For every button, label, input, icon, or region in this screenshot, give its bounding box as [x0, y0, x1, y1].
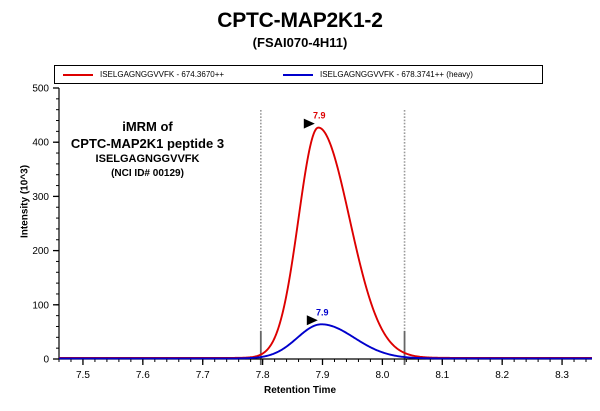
y-tick-label: 0 [43, 355, 49, 366]
x-tick-label: 7.7 [196, 370, 210, 381]
x-tick-label: 7.8 [256, 370, 270, 381]
y-tick-label: 100 [32, 300, 49, 311]
x-tick-label: 8.3 [555, 370, 569, 381]
y-tick-label: 400 [32, 138, 49, 149]
x-tick-label: 8.1 [435, 370, 449, 381]
chromatogram-chart: CPTC-MAP2K1-2 (FSAI070-4H11) ISELGAGNGGV… [0, 0, 600, 411]
x-tick-label: 7.9 [316, 370, 330, 381]
trace-light [59, 128, 592, 358]
peak-label-heavy: 7.9 [316, 307, 329, 317]
x-tick-label: 7.6 [136, 370, 150, 381]
plot-area: 01002003004005007.57.67.77.87.98.08.18.2… [0, 0, 600, 411]
y-tick-label: 300 [32, 192, 49, 203]
y-tick-label: 200 [32, 246, 49, 257]
y-tick-label: 500 [32, 84, 49, 95]
x-tick-label: 7.5 [76, 370, 90, 381]
x-tick-label: 8.2 [495, 370, 509, 381]
peak-label-light: 7.9 [313, 111, 326, 121]
trace-heavy [59, 324, 592, 358]
x-tick-label: 8.0 [375, 370, 389, 381]
